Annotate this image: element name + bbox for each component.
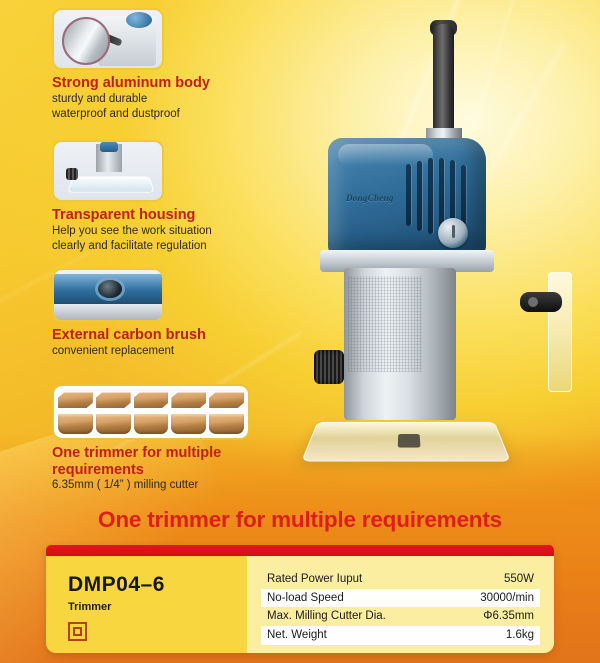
wood-profile-sample (58, 390, 93, 411)
feature-title: Transparent housing (52, 207, 292, 224)
double-insulation-icon (68, 622, 87, 641)
specification-card: DMP04–6 Trimmer Rated Power Iuput 550W N… (46, 545, 554, 653)
feature-subtitle: 6.35mm ( 1/4” ) milling cutter (52, 478, 296, 493)
spec-value: 550W (504, 571, 534, 588)
feature-title: One trimmer for multiple requirements (52, 445, 252, 478)
table-row: No-load Speed 30000/min (261, 589, 540, 608)
wood-profile-sample (171, 390, 206, 411)
depth-adjust-knob (314, 350, 344, 384)
cord-grip (433, 24, 454, 144)
wood-profile-grid (58, 390, 244, 434)
model-panel: DMP04–6 Trimmer (46, 556, 247, 653)
feature-block-multiple-requirements: One trimmer for multiple requirements 6.… (52, 384, 296, 494)
transparent-base-plate (301, 422, 511, 462)
thumb-knob (66, 168, 78, 180)
feature-subtitle: convenient replacement (52, 344, 292, 359)
card-red-accent-bar (46, 545, 554, 556)
motor-housing: DongCheng (328, 138, 486, 256)
product-photo: DongCheng (300, 10, 590, 500)
spec-value: 30000/min (480, 590, 534, 607)
wood-profile-sample (96, 390, 131, 411)
clamp-lever (520, 292, 562, 312)
magnifier-icon (62, 17, 110, 65)
table-row: Rated Power Iuput 550W (261, 570, 540, 589)
carbon-brush-thumbnail (52, 268, 164, 322)
aluminum-knurl-texture (348, 276, 422, 372)
feature-block-aluminum-body: Strong aluminum body sturdy and durable … (52, 8, 292, 122)
brand-logo-text: DongCheng (346, 193, 394, 203)
feature-subtitle: Help you see the work situation clearly … (52, 224, 292, 254)
aluminum-body-thumbnail (52, 8, 164, 70)
spec-label: Rated Power Iuput (267, 571, 362, 588)
wood-profile-sample (171, 414, 206, 435)
wood-profile-sample (134, 414, 169, 435)
headline-banner: One trimmer for multiple requirements (0, 503, 600, 537)
model-type: Trimmer (68, 601, 247, 613)
thumb-metal-foot (54, 304, 162, 320)
wood-profile-sample (209, 390, 244, 411)
feature-title: Strong aluminum body (52, 75, 292, 92)
spec-value: Φ6.35mm (483, 608, 534, 625)
feature-title: External carbon brush (52, 327, 292, 344)
thumb-blue-cap (100, 142, 118, 152)
acrylic-side-tab (548, 272, 572, 392)
carbon-brush-cap-icon (98, 280, 122, 298)
spec-value: 1.6kg (506, 627, 534, 644)
model-number: DMP04–6 (68, 573, 247, 597)
thumb-base-plate (67, 176, 155, 192)
table-row: Max. Milling Cutter Dia. Φ6.35mm (261, 607, 540, 626)
transparent-housing-thumbnail (52, 140, 164, 202)
brand-logo: DongCheng (346, 190, 420, 206)
specification-table: Rated Power Iuput 550W No-load Speed 300… (247, 556, 554, 653)
table-row: Net. Weight 1.6kg (261, 626, 540, 645)
wood-profile-sample (134, 390, 169, 411)
spec-label: Max. Milling Cutter Dia. (267, 608, 386, 625)
wood-profiles-thumbnail (52, 384, 250, 440)
power-switch-icon (438, 218, 468, 248)
spec-label: Net. Weight (267, 627, 327, 644)
spec-label: No-load Speed (267, 590, 344, 607)
wood-profile-sample (209, 414, 244, 435)
feature-block-carbon-brush: External carbon brush convenient replace… (52, 268, 292, 359)
wood-profile-sample (96, 414, 131, 435)
feature-subtitle: sturdy and durable waterproof and dustpr… (52, 92, 292, 122)
wood-profile-sample (58, 414, 93, 435)
card-body: DMP04–6 Trimmer Rated Power Iuput 550W N… (46, 556, 554, 653)
feature-block-transparent-housing: Transparent housing Help you see the wor… (52, 140, 292, 254)
thumb-blue-cap (126, 12, 152, 28)
